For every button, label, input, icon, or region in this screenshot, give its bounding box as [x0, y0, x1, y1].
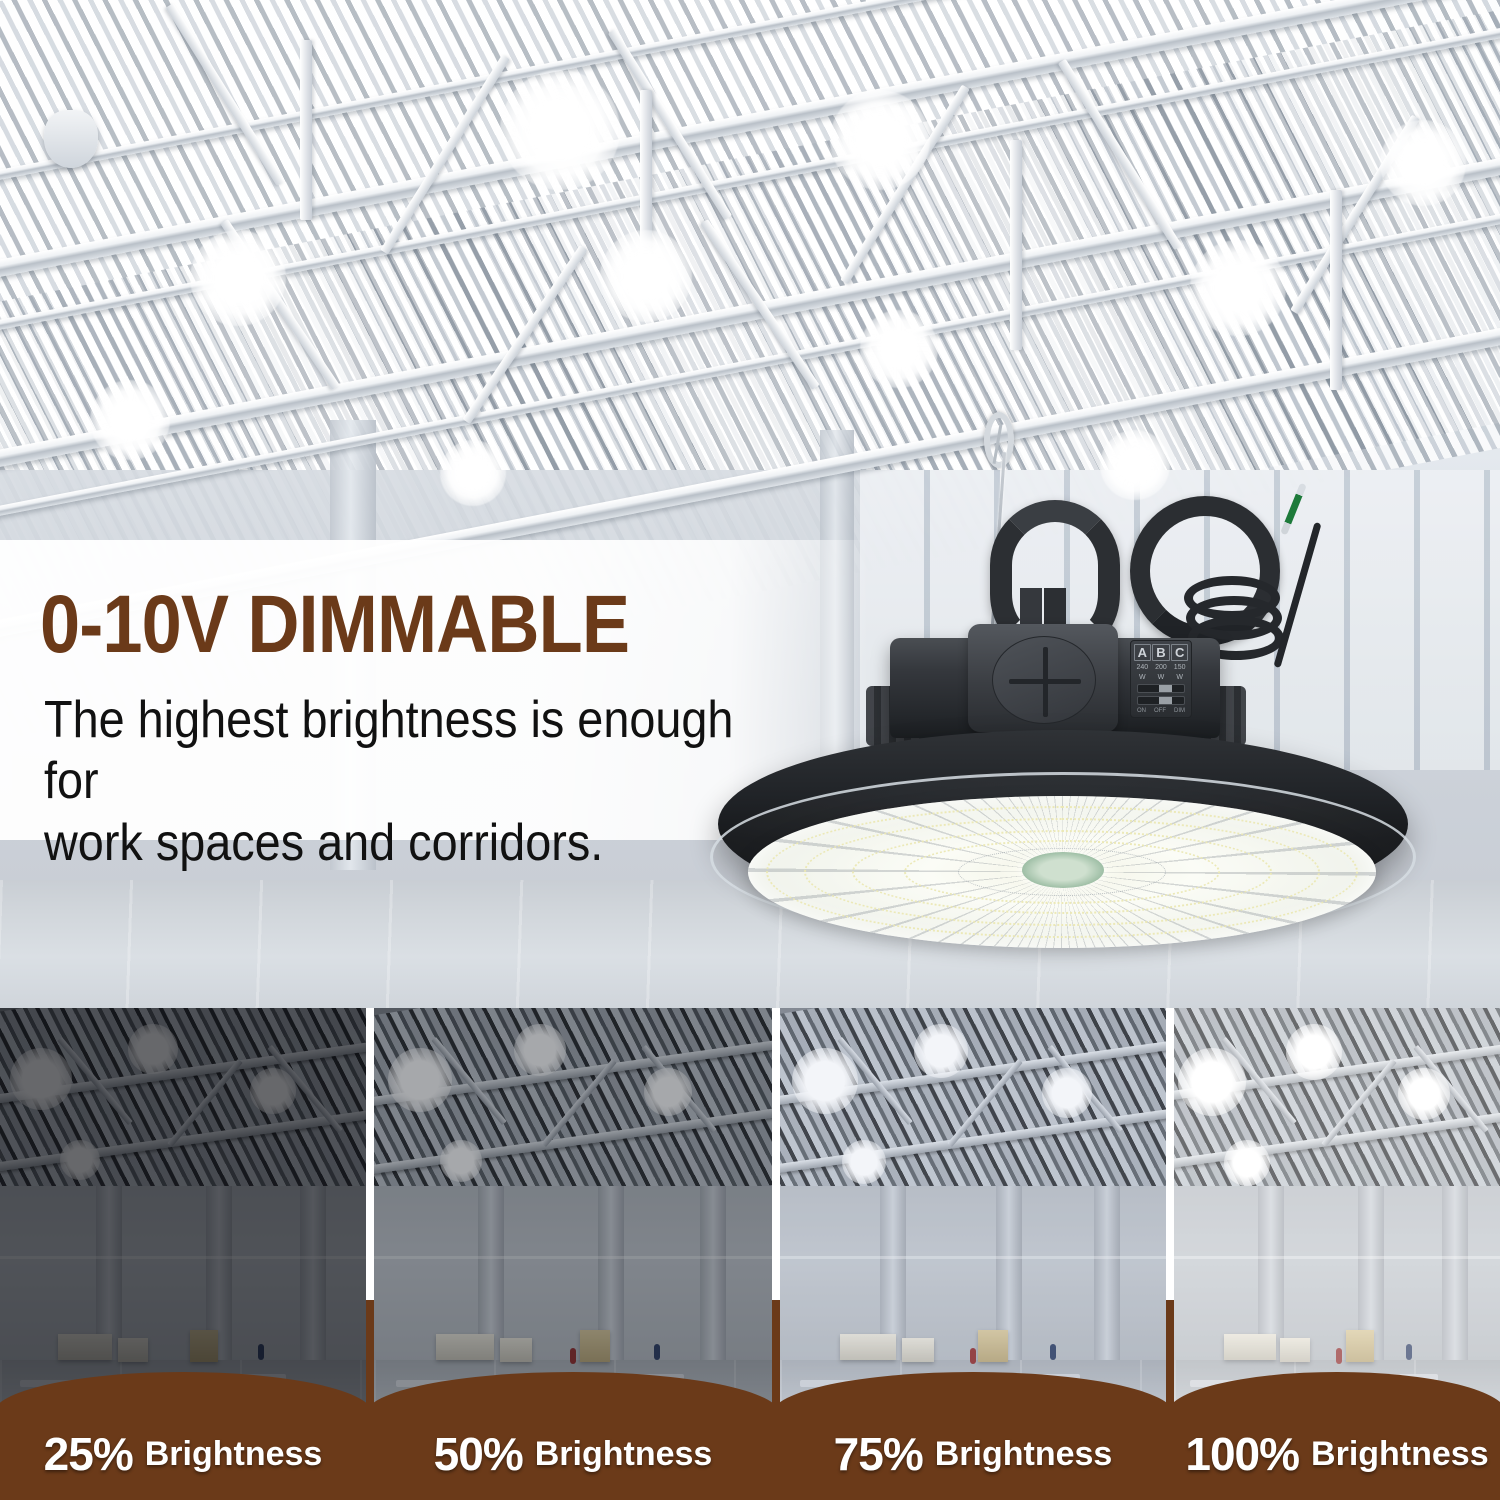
- dim-veil: [1174, 1008, 1500, 1428]
- wattage-unit-b: W: [1158, 674, 1165, 681]
- brightness-label: Brightness: [145, 1435, 323, 1474]
- wattage-b: 200: [1155, 664, 1167, 671]
- hanger-post: [300, 40, 312, 220]
- dip-switch-2[interactable]: [1137, 696, 1185, 705]
- thumbnail-image: [1174, 1008, 1500, 1428]
- dim-veil: [780, 1008, 1166, 1428]
- dim-veil: [374, 1008, 772, 1428]
- cord-tail: [1273, 522, 1321, 668]
- brightness-cell[interactable]: 50% Brightness: [374, 1008, 772, 1500]
- carabiner-icon: [984, 412, 1014, 468]
- switch-footnotes: ONOFFDIM: [1133, 708, 1189, 714]
- ceiling-luminaire-glow: [440, 440, 506, 506]
- ceiling-luminaire-glow: [500, 70, 620, 190]
- subtitle-line-2: work spaces and corridors.: [44, 813, 791, 874]
- ceiling-luminaire-glow: [190, 230, 286, 326]
- caption-bar: 25% Brightness: [0, 1408, 366, 1500]
- thumbnail-image: [780, 1008, 1166, 1428]
- wattage-values: 240 200 150: [1133, 664, 1189, 671]
- caption-bar: 100% Brightness: [1174, 1408, 1500, 1500]
- brightness-percent: 25%: [44, 1427, 133, 1481]
- selector-letter-b: B: [1152, 644, 1169, 661]
- ceiling-luminaire-glow: [860, 310, 938, 388]
- green-ground-wire: [1280, 483, 1307, 536]
- caption-bar: 50% Brightness: [374, 1408, 772, 1500]
- wattage-a: 240: [1136, 664, 1148, 671]
- wattage-unit-c: W: [1176, 674, 1183, 681]
- brightness-label: Brightness: [535, 1435, 713, 1474]
- brightness-percent: 100%: [1185, 1427, 1299, 1481]
- selector-letter-a: A: [1134, 644, 1151, 661]
- wattage-c: 150: [1174, 664, 1186, 671]
- ceiling-luminaire-glow: [1190, 240, 1286, 336]
- brightness-label: Brightness: [1311, 1435, 1489, 1474]
- led-high-bay-fixture: A B C 240 200 150 W W W ONOFFDIM: [690, 400, 1500, 960]
- ceiling-luminaire-glow: [600, 230, 692, 322]
- dim-veil: [0, 1008, 366, 1428]
- cross-screw-icon: [992, 636, 1096, 724]
- ceiling-luminaire-glow: [830, 90, 930, 190]
- hanger-post: [1330, 190, 1342, 390]
- ceiling-luminaire: [44, 110, 98, 168]
- brightness-cell[interactable]: 25% Brightness: [0, 1008, 366, 1500]
- caption-bar: 75% Brightness: [780, 1408, 1166, 1500]
- brightness-label: Brightness: [935, 1435, 1113, 1474]
- brightness-cell[interactable]: 100% Brightness: [1174, 1008, 1500, 1500]
- thumbnail-image: [0, 1008, 366, 1428]
- brightness-cell[interactable]: 75% Brightness: [780, 1008, 1166, 1500]
- wattage-units: W W W: [1133, 674, 1189, 681]
- product-infographic: 0-10V DIMMABLE The highest brightness is…: [0, 0, 1500, 1500]
- lens-center-hub: [1022, 852, 1104, 888]
- wattage-unit-a: W: [1139, 674, 1146, 681]
- dip-switch-1[interactable]: [1137, 684, 1185, 693]
- thumbnail-image: [374, 1008, 772, 1428]
- ceiling-luminaire-glow: [1380, 120, 1466, 206]
- wattage-selector-plate[interactable]: A B C 240 200 150 W W W ONOFFDIM: [1130, 640, 1192, 718]
- brightness-comparison-strip: 25% Brightness: [0, 1008, 1500, 1500]
- page-subtitle: The highest brightness is enough for wor…: [44, 690, 791, 874]
- selector-letters: A B C: [1133, 644, 1189, 661]
- hanger-post: [1010, 140, 1022, 350]
- page-title: 0-10V DIMMABLE: [40, 586, 629, 665]
- subtitle-line-1: The highest brightness is enough for: [44, 690, 791, 813]
- brightness-percent: 75%: [834, 1427, 923, 1481]
- selector-letter-c: C: [1171, 644, 1188, 661]
- led-lens-disc: [748, 796, 1376, 948]
- ceiling-luminaire-glow: [90, 380, 170, 460]
- brightness-percent: 50%: [434, 1427, 523, 1481]
